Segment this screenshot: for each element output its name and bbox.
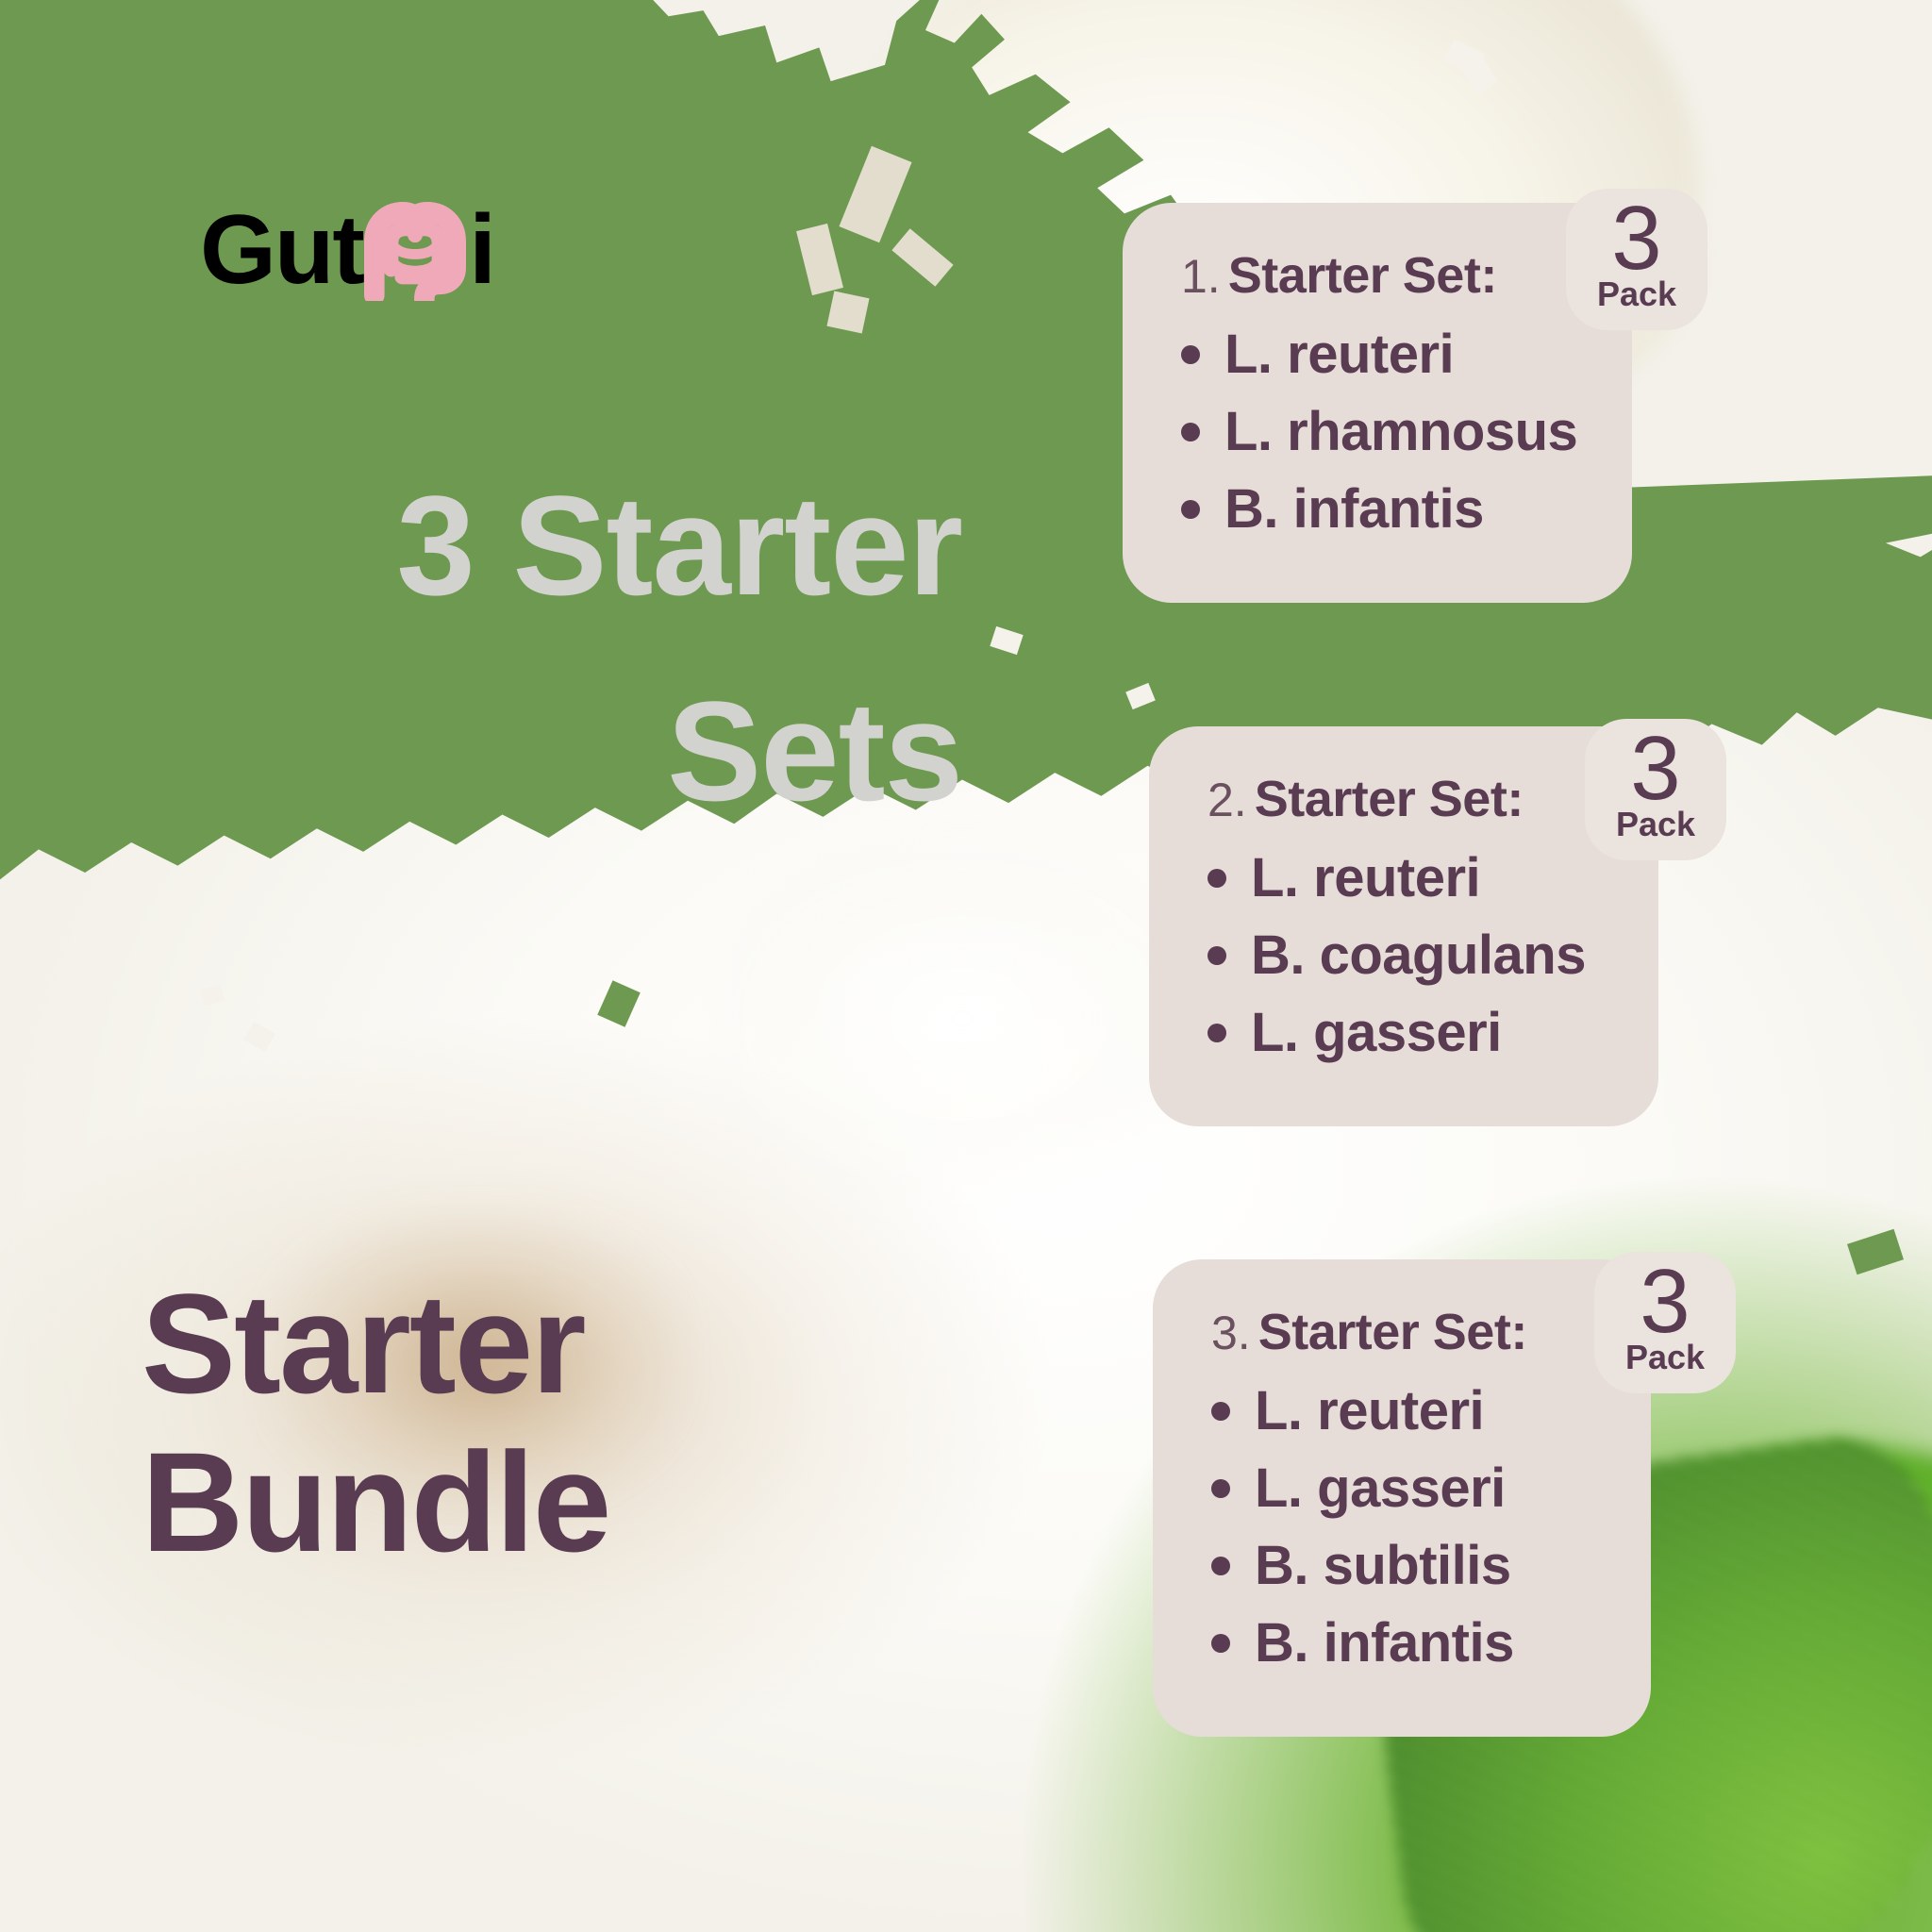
strain-name: L. reuteri bbox=[1224, 327, 1454, 382]
pack-badge-2-number: 3 bbox=[1630, 734, 1680, 805]
headline-bundle-line-2: Bundle bbox=[142, 1423, 877, 1581]
list-item: L. reuteri bbox=[1211, 1384, 1594, 1439]
starter-set-card-3[interactable]: 3. Starter Set: L. reuteri L. gasseri B.… bbox=[1153, 1259, 1651, 1737]
headline-line-1: 3 Starter bbox=[113, 443, 962, 649]
list-item: B. coagulans bbox=[1207, 928, 1602, 983]
strain-name: B. coagulans bbox=[1251, 928, 1586, 983]
pack-badge-3-number: 3 bbox=[1640, 1267, 1690, 1338]
paper-fleck bbox=[826, 291, 869, 333]
card-1-strain-list: L. reuteri L. rhamnosus B. infantis bbox=[1181, 327, 1575, 537]
logo-text-i: i bbox=[469, 201, 494, 299]
list-item: L. rhamnosus bbox=[1181, 405, 1575, 459]
headline-starter-bundle: Starter Bundle bbox=[142, 1264, 877, 1581]
pack-badge-1-label: Pack bbox=[1597, 277, 1676, 311]
card-1-number: 1. bbox=[1181, 249, 1221, 304]
headline-bundle-line-1: Starter bbox=[142, 1264, 877, 1423]
promo-graphic: Gut i 3 Starter Sets Starter Bundle 1. S… bbox=[0, 0, 1932, 1932]
starter-set-card-1[interactable]: 1. Starter Set: L. reuteri L. rhamnosus … bbox=[1123, 203, 1632, 603]
bullet-icon bbox=[1181, 345, 1200, 364]
intestine-glyph-icon bbox=[359, 199, 471, 301]
bullet-icon bbox=[1211, 1402, 1230, 1421]
strain-name: B. infantis bbox=[1255, 1616, 1514, 1671]
strain-name: L. rhamnosus bbox=[1224, 405, 1577, 459]
pack-badge-1-number: 3 bbox=[1611, 204, 1661, 275]
strain-name: L. gasseri bbox=[1251, 1006, 1502, 1060]
pack-badge-1: 3 Pack bbox=[1566, 189, 1707, 330]
list-item: L. gasseri bbox=[1207, 1006, 1602, 1060]
starter-set-card-2[interactable]: 2. Starter Set: L. reuteri B. coagulans … bbox=[1149, 726, 1658, 1126]
list-item: L. reuteri bbox=[1207, 851, 1602, 906]
bullet-icon bbox=[1207, 946, 1226, 965]
list-item: L. reuteri bbox=[1181, 327, 1575, 382]
strain-name: L. reuteri bbox=[1255, 1384, 1484, 1439]
strain-name: B. infantis bbox=[1224, 482, 1484, 537]
cream-blur-highlight bbox=[717, 849, 1207, 1189]
card-3-number: 3. bbox=[1211, 1306, 1251, 1360]
brand-logo[interactable]: Gut i bbox=[200, 198, 494, 302]
strain-name: L. gasseri bbox=[1255, 1461, 1506, 1516]
pack-badge-2: 3 Pack bbox=[1585, 719, 1726, 860]
bullet-icon bbox=[1207, 1024, 1226, 1042]
logo-text-gut: Gut bbox=[200, 201, 363, 299]
card-2-strain-list: L. reuteri B. coagulans L. gasseri bbox=[1207, 851, 1602, 1060]
strain-name: L. reuteri bbox=[1251, 851, 1480, 906]
pack-badge-3-label: Pack bbox=[1625, 1341, 1705, 1374]
card-1-title-text: Starter Set: bbox=[1228, 246, 1497, 305]
headline-starter-sets: 3 Starter Sets bbox=[113, 443, 962, 854]
list-item: B. infantis bbox=[1211, 1616, 1594, 1671]
pack-badge-2-label: Pack bbox=[1616, 808, 1695, 841]
card-2-title-text: Starter Set: bbox=[1255, 770, 1524, 828]
bullet-icon bbox=[1211, 1557, 1230, 1575]
bullet-icon bbox=[1211, 1634, 1230, 1653]
list-item: L. gasseri bbox=[1211, 1461, 1594, 1516]
card-3-strain-list: L. reuteri L. gasseri B. subtilis B. inf… bbox=[1211, 1384, 1594, 1671]
pack-badge-3: 3 Pack bbox=[1594, 1252, 1736, 1393]
bullet-icon bbox=[1211, 1479, 1230, 1498]
bullet-icon bbox=[1181, 423, 1200, 441]
bullet-icon bbox=[1207, 869, 1226, 888]
card-2-title: 2. Starter Set: bbox=[1207, 770, 1602, 828]
card-3-title-text: Starter Set: bbox=[1258, 1303, 1527, 1361]
card-3-title: 3. Starter Set: bbox=[1211, 1303, 1594, 1361]
card-1-title: 1. Starter Set: bbox=[1181, 246, 1575, 305]
bullet-icon bbox=[1181, 500, 1200, 519]
card-2-number: 2. bbox=[1207, 773, 1247, 827]
list-item: B. infantis bbox=[1181, 482, 1575, 537]
list-item: B. subtilis bbox=[1211, 1539, 1594, 1593]
strain-name: B. subtilis bbox=[1255, 1539, 1511, 1593]
headline-line-2: Sets bbox=[113, 649, 962, 855]
